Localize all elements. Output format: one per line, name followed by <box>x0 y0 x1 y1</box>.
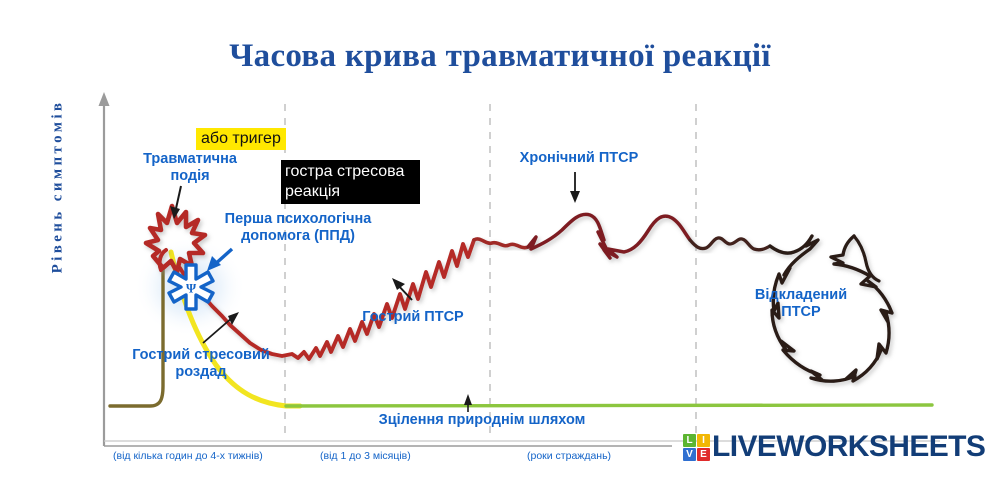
infographic-root: Часова крива травматичної реакції <box>0 0 1000 478</box>
recovery-baseline <box>286 405 932 406</box>
annotation-trigger: або тригер <box>196 128 286 150</box>
annotation-delayed-ptsd: Відкладений ПТСР <box>743 287 859 322</box>
chart-area: Ψ <box>0 0 1000 478</box>
annotation-acute-stress-reaction: гостра стресова реакція <box>281 160 420 204</box>
annotation-acute-stress-disorder: Гострий стресовий роздад <box>110 347 292 382</box>
chronic-ptsd-curve <box>528 214 690 258</box>
post-chronic-curve <box>690 238 770 250</box>
logo-tile-v: V <box>683 448 696 461</box>
chronic-transition <box>474 239 528 248</box>
logo-tile-i: I <box>697 434 710 447</box>
x-tick-label-0: (від кілька годин до 4-х тижнів) <box>113 450 263 462</box>
annotation-psychological-first-aid: Перша психологічна допомога (ППД) <box>208 211 388 246</box>
annotation-acute-ptsd: Гострий ПТСР <box>352 309 474 326</box>
trauma-curve-svg: Ψ <box>0 0 1000 478</box>
x-tick-label-2: (роки страждань) <box>527 450 611 462</box>
annotation-natural-healing: Зцілення природнім шляхом <box>337 412 627 429</box>
x-tick-label-1: (від 1 до 3 місяців) <box>320 450 411 462</box>
annotation-traumatic-event: Травматична подія <box>128 151 252 186</box>
logo-tile-l: L <box>683 434 696 447</box>
y-axis <box>99 92 110 446</box>
logo-tile-e: E <box>697 448 710 461</box>
y-axis-label: Рівень симптомів <box>50 87 67 287</box>
liveworksheets-watermark: L I V E LIVEWORKSHEETS <box>683 432 985 462</box>
svg-text:Ψ: Ψ <box>186 281 197 296</box>
liveworksheets-logo-icon: L I V E <box>683 434 710 461</box>
watermark-text: LIVEWORKSHEETS <box>712 432 985 462</box>
annotation-chronic-ptsd: Хронічний ПТСР <box>503 150 655 167</box>
